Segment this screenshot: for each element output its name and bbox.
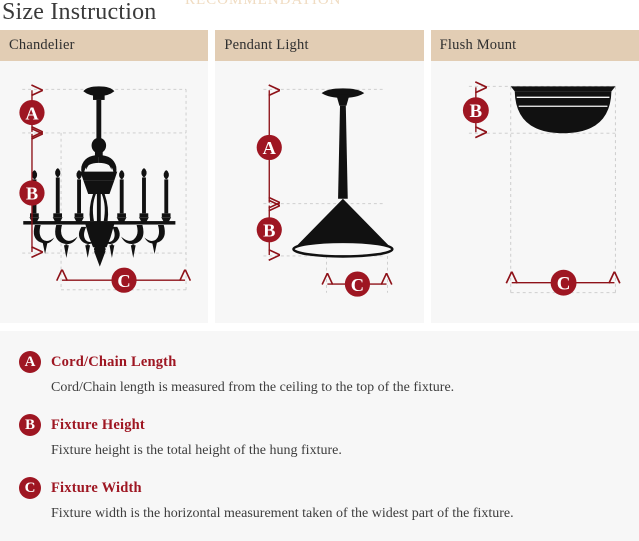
legend-item-b: B Fixture Height Fixture height is the t… [0, 411, 639, 462]
measurement-marker-c: C [111, 268, 136, 293]
svg-text:C: C [351, 275, 364, 295]
svg-text:B: B [263, 221, 275, 241]
measurement-marker-b: B [19, 180, 44, 205]
svg-text:A: A [25, 103, 39, 123]
legend-title-a: Cord/Chain Length [51, 354, 176, 371]
measurement-marker-b: B [463, 97, 489, 123]
column-header-flush-mount: Flush Mount [431, 30, 639, 61]
column-header-chandelier: Chandelier [0, 30, 208, 61]
measurement-marker-b: B [257, 217, 282, 242]
measurement-marker-a: A [19, 100, 44, 125]
legend-head-a: A Cord/Chain Length [0, 348, 639, 376]
svg-text:B: B [469, 101, 482, 122]
svg-text:C: C [117, 271, 130, 291]
cropped-heading-text: RECOMMENDATION [185, 0, 400, 7]
column-body-chandelier: A B C [0, 61, 208, 323]
column-body-flush-mount: B C [431, 61, 639, 323]
legend-description-b: Fixture height is the total height of th… [0, 440, 639, 462]
legend-item-c: C Fixture Width Fixture width is the hor… [0, 474, 639, 525]
legend-description-a: Cord/Chain length is measured from the c… [0, 377, 639, 399]
legend-badge-b: B [19, 414, 41, 436]
chandelier-diagram: A B C [0, 61, 208, 323]
column-header-pendant-light: Pendant Light [215, 30, 423, 61]
column-chandelier: Chandelier [0, 30, 208, 323]
measurement-legend: A Cord/Chain Length Cord/Chain length is… [0, 331, 639, 541]
column-body-pendant-light: A B C [215, 61, 423, 323]
size-instruction-table: Chandelier [0, 30, 639, 323]
column-flush-mount: Flush Mount [431, 30, 639, 323]
legend-badge-c: C [19, 477, 41, 499]
pendant-light-diagram: A B C [215, 61, 423, 323]
measurement-marker-c: C [550, 270, 576, 296]
flush-mount-diagram: B C [431, 61, 639, 323]
cropped-heading-fragment: RECOMMENDATION [185, 0, 400, 7]
flush-mount-dome-silhouette [510, 86, 615, 133]
legend-title-b: Fixture Height [51, 417, 145, 434]
svg-text:A: A [263, 138, 277, 158]
legend-description-c: Fixture width is the horizontal measurem… [0, 503, 639, 525]
pendant-cone-silhouette [294, 88, 393, 256]
svg-text:B: B [26, 184, 38, 204]
legend-head-b: B Fixture Height [0, 411, 639, 439]
legend-title-c: Fixture Width [51, 480, 142, 497]
chandelier-silhouette [23, 86, 175, 266]
legend-item-a: A Cord/Chain Length Cord/Chain length is… [0, 348, 639, 399]
page-title: Size Instruction [2, 0, 157, 27]
legend-badge-a: A [19, 351, 41, 373]
measurement-marker-a: A [257, 135, 282, 160]
svg-text:C: C [556, 274, 570, 295]
measurement-marker-c: C [345, 271, 370, 296]
legend-head-c: C Fixture Width [0, 474, 639, 502]
column-pendant-light: Pendant Light [215, 30, 423, 323]
